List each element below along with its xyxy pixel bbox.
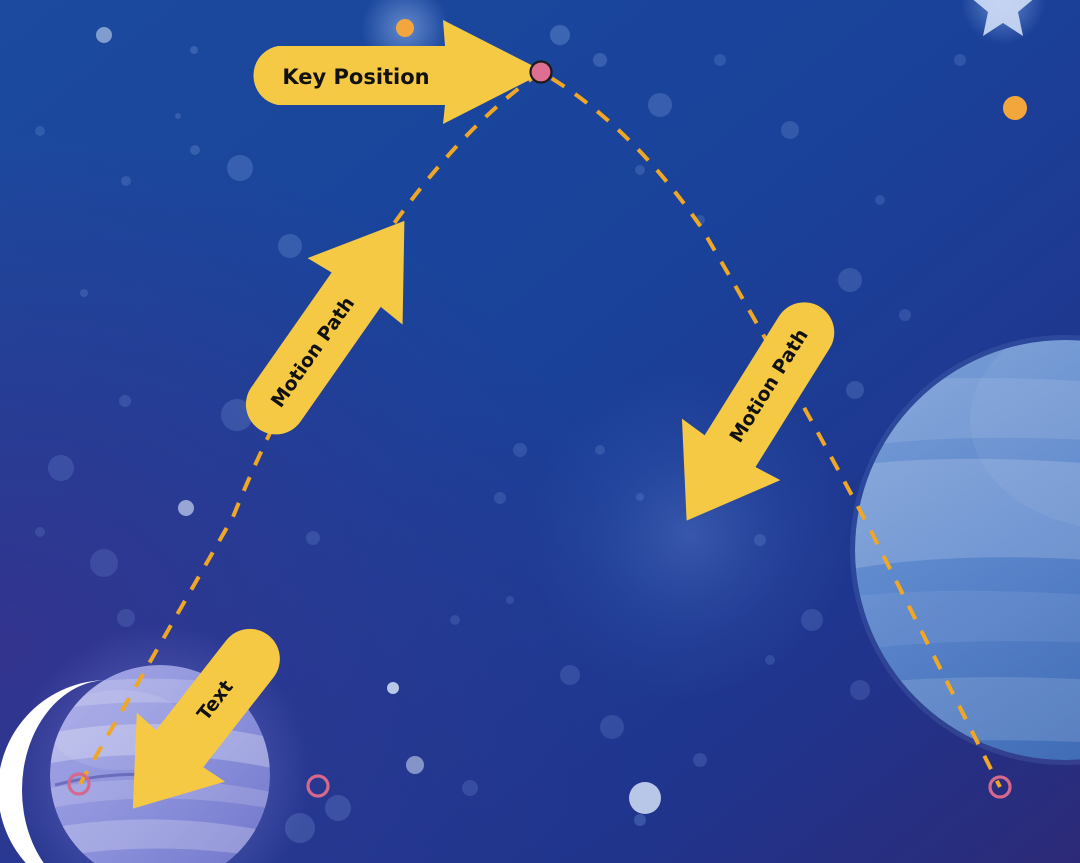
key-position-arrow-label: Key Position bbox=[282, 65, 429, 89]
endpoint-left[interactable] bbox=[69, 774, 89, 794]
text-arrow[interactable]: Text bbox=[89, 601, 313, 843]
motion-path-scene: Key Position Motion Path Motion Path Tex… bbox=[0, 0, 1080, 863]
motion-path-arrow-left[interactable]: Motion Path bbox=[211, 188, 452, 463]
endpoint-mid[interactable] bbox=[308, 776, 328, 796]
key-position-marker[interactable] bbox=[531, 62, 552, 83]
key-position-arrow[interactable]: Key Position bbox=[253, 20, 545, 124]
